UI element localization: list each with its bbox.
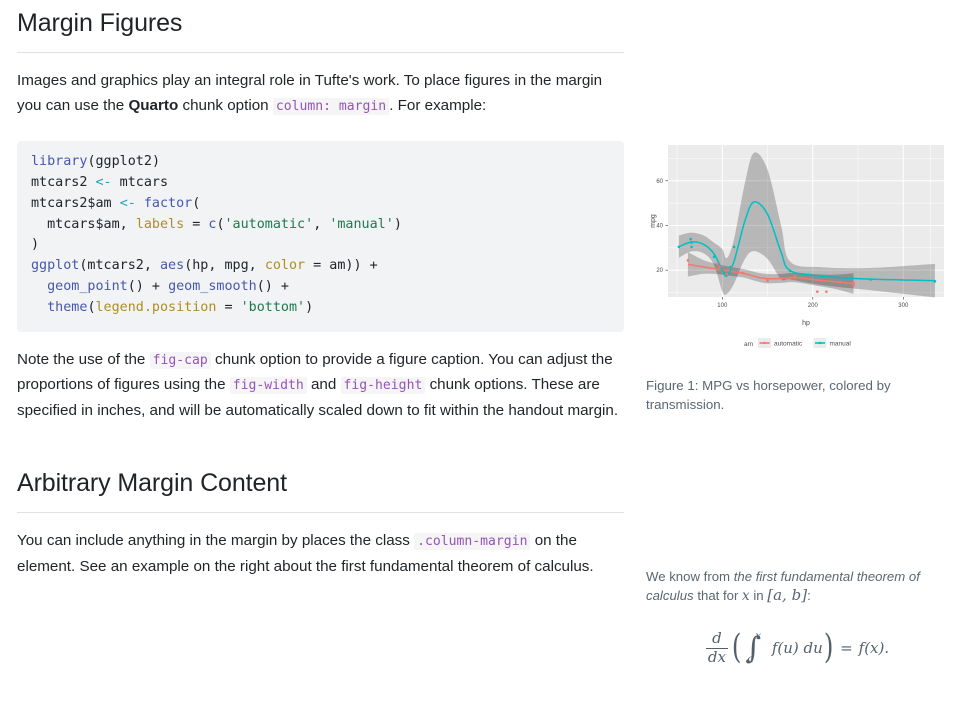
margin-column: 100200300204060 hp mpg amautomaticmanual…	[646, 8, 946, 666]
data-point	[718, 266, 721, 269]
code-block-r[interactable]: library(ggplot2) mtcars2 <- mtcars mtcar…	[17, 141, 624, 332]
page-title-arbitrary-margin-content: Arbitrary Margin Content	[17, 468, 624, 513]
code-token: (	[216, 217, 224, 232]
paragraph-margin-figures-intro: Images and graphics play an integral rol…	[17, 69, 624, 119]
integral-lower-limit: a	[747, 656, 753, 663]
equals-sign: =	[840, 639, 853, 657]
display-equation-ftc: d dx ( ∫ x a f(u) du ) = f(x).	[646, 628, 946, 666]
legend-title: am	[744, 341, 753, 348]
code-token: ggplot2	[96, 154, 152, 169]
data-point	[690, 246, 693, 249]
code-token: =	[184, 217, 208, 232]
inline-code-fig-height: fig-height	[341, 377, 426, 394]
data-point	[687, 259, 690, 262]
data-point	[689, 238, 692, 241]
inline-code-column-margin-class: .column-margin	[414, 533, 530, 550]
data-point	[825, 290, 828, 293]
legend-key-point	[763, 342, 765, 344]
code-token: theme	[47, 300, 87, 315]
code-token: )	[394, 217, 402, 232]
x-axis-title: hp	[802, 320, 810, 327]
text-fragment: that for	[694, 588, 742, 603]
y-axis-title: mpg	[650, 214, 657, 228]
code-token: 'bottom'	[241, 300, 306, 315]
derivative-operator: d dx	[706, 631, 728, 666]
fraction-denominator: dx	[706, 648, 728, 666]
code-token: )	[305, 300, 313, 315]
text-fragment: You can include anything in the margin b…	[17, 532, 414, 549]
x-axis-tick-label: 200	[808, 303, 819, 309]
legend-entry-label: automatic	[774, 341, 803, 348]
text-fragment: and	[307, 376, 341, 393]
data-point	[713, 255, 716, 258]
data-point	[816, 290, 819, 293]
text-fragment: We know from	[646, 569, 734, 584]
code-token: =	[216, 300, 240, 315]
data-point	[742, 272, 745, 275]
y-axis-tick-label: 20	[656, 268, 663, 274]
code-token	[31, 300, 47, 315]
fraction-numerator: d	[710, 631, 724, 648]
code-token: (mtcars2,	[79, 258, 160, 273]
right-paren: )	[824, 634, 834, 662]
code-token: aes	[160, 258, 184, 273]
code-token: 'automatic'	[225, 217, 314, 232]
equation-row: d dx ( ∫ x a f(u) du ) = f(x).	[703, 631, 889, 666]
code-token: factor	[144, 196, 192, 211]
data-point	[789, 277, 792, 280]
ggplot-svg: 100200300204060 hp mpg amautomaticmanual	[646, 141, 946, 354]
code-token: ggplot	[31, 258, 79, 273]
code-token: library	[31, 154, 87, 169]
figure-caption: Figure 1: MPG vs horsepower, colored by …	[646, 376, 946, 414]
x-axis-tick-label: 300	[898, 303, 909, 309]
math-interval-ab: [a, b]	[767, 586, 807, 604]
data-point	[733, 246, 736, 249]
data-point	[789, 270, 792, 273]
code-token: mtcars2	[31, 175, 96, 190]
y-axis-tick-label: 60	[656, 179, 663, 185]
code-token: )	[31, 237, 39, 252]
code-token: <-	[120, 196, 136, 211]
code-token: (	[87, 300, 95, 315]
code-token: labels	[136, 217, 184, 232]
equation-rhs: f(x).	[859, 639, 889, 657]
code-token: () +	[257, 279, 289, 294]
integral-sign: ∫ x a	[745, 638, 761, 659]
inline-code-fig-width: fig-width	[230, 377, 307, 394]
figure-mpg-vs-hp: 100200300204060 hp mpg amautomaticmanual	[646, 141, 946, 354]
data-point	[852, 282, 855, 285]
margin-note-ftc: We know from the first fundamental theor…	[646, 567, 946, 606]
code-token: <-	[96, 175, 112, 190]
code-token: () +	[128, 279, 168, 294]
code-token: geom_smooth	[168, 279, 257, 294]
code-token: (	[192, 196, 200, 211]
page-root: Margin Figures Images and graphics play …	[0, 0, 965, 723]
main-content-column: Margin Figures Images and graphics play …	[17, 8, 624, 579]
page-title-margin-figures: Margin Figures	[17, 8, 624, 53]
code-token: mtcars2$am	[31, 196, 120, 211]
legend-entry-label: manual	[830, 341, 852, 348]
inline-code-fig-cap: fig-cap	[150, 352, 211, 369]
paragraph-figcap-note: Note the use of the fig-cap chunk option…	[17, 348, 624, 423]
data-point	[869, 278, 872, 281]
code-token	[136, 196, 144, 211]
text-fragment: Note the use of the	[17, 351, 150, 368]
data-point	[678, 246, 681, 249]
data-point	[839, 281, 842, 284]
text-fragment: . For example:	[389, 97, 486, 114]
code-token: = am)) +	[305, 258, 378, 273]
integral-upper-limit: x	[755, 633, 761, 640]
text-fragment: in	[750, 588, 768, 603]
data-point	[690, 241, 693, 244]
text-fragment: chunk option	[178, 97, 273, 114]
code-token: ,	[313, 217, 329, 232]
x-axis-tick-label: 100	[717, 303, 728, 309]
left-paren: (	[732, 634, 742, 662]
data-point	[729, 266, 732, 269]
text-fragment: :	[807, 588, 811, 603]
legend-key-point	[819, 342, 821, 344]
data-point	[766, 279, 769, 282]
code-token: color	[265, 258, 305, 273]
code-token	[31, 279, 47, 294]
integrand: f(u) du	[772, 639, 823, 657]
data-point	[716, 263, 719, 266]
paragraph-arbitrary-margin: You can include anything in the margin b…	[17, 529, 624, 579]
code-token: (	[87, 154, 95, 169]
code-block-content: library(ggplot2) mtcars2 <- mtcars mtcar…	[31, 154, 402, 315]
code-token: (hp, mpg,	[184, 258, 265, 273]
code-token: geom_point	[47, 279, 128, 294]
chart-legend: amautomaticmanual	[744, 338, 851, 348]
code-token: legend.position	[96, 300, 217, 315]
code-token: 'manual'	[329, 217, 394, 232]
code-token: )	[152, 154, 160, 169]
inline-code-column-margin: column: margin	[273, 98, 389, 115]
code-token: mtcars	[112, 175, 168, 190]
data-point	[793, 275, 796, 278]
code-token: mtcars$am,	[31, 217, 136, 232]
data-point	[934, 280, 937, 283]
y-axis-tick-label: 40	[656, 223, 663, 229]
data-point	[726, 273, 729, 276]
data-point	[852, 284, 855, 287]
math-variable-x: x	[742, 588, 750, 604]
bold-quarto: Quarto	[128, 97, 178, 114]
